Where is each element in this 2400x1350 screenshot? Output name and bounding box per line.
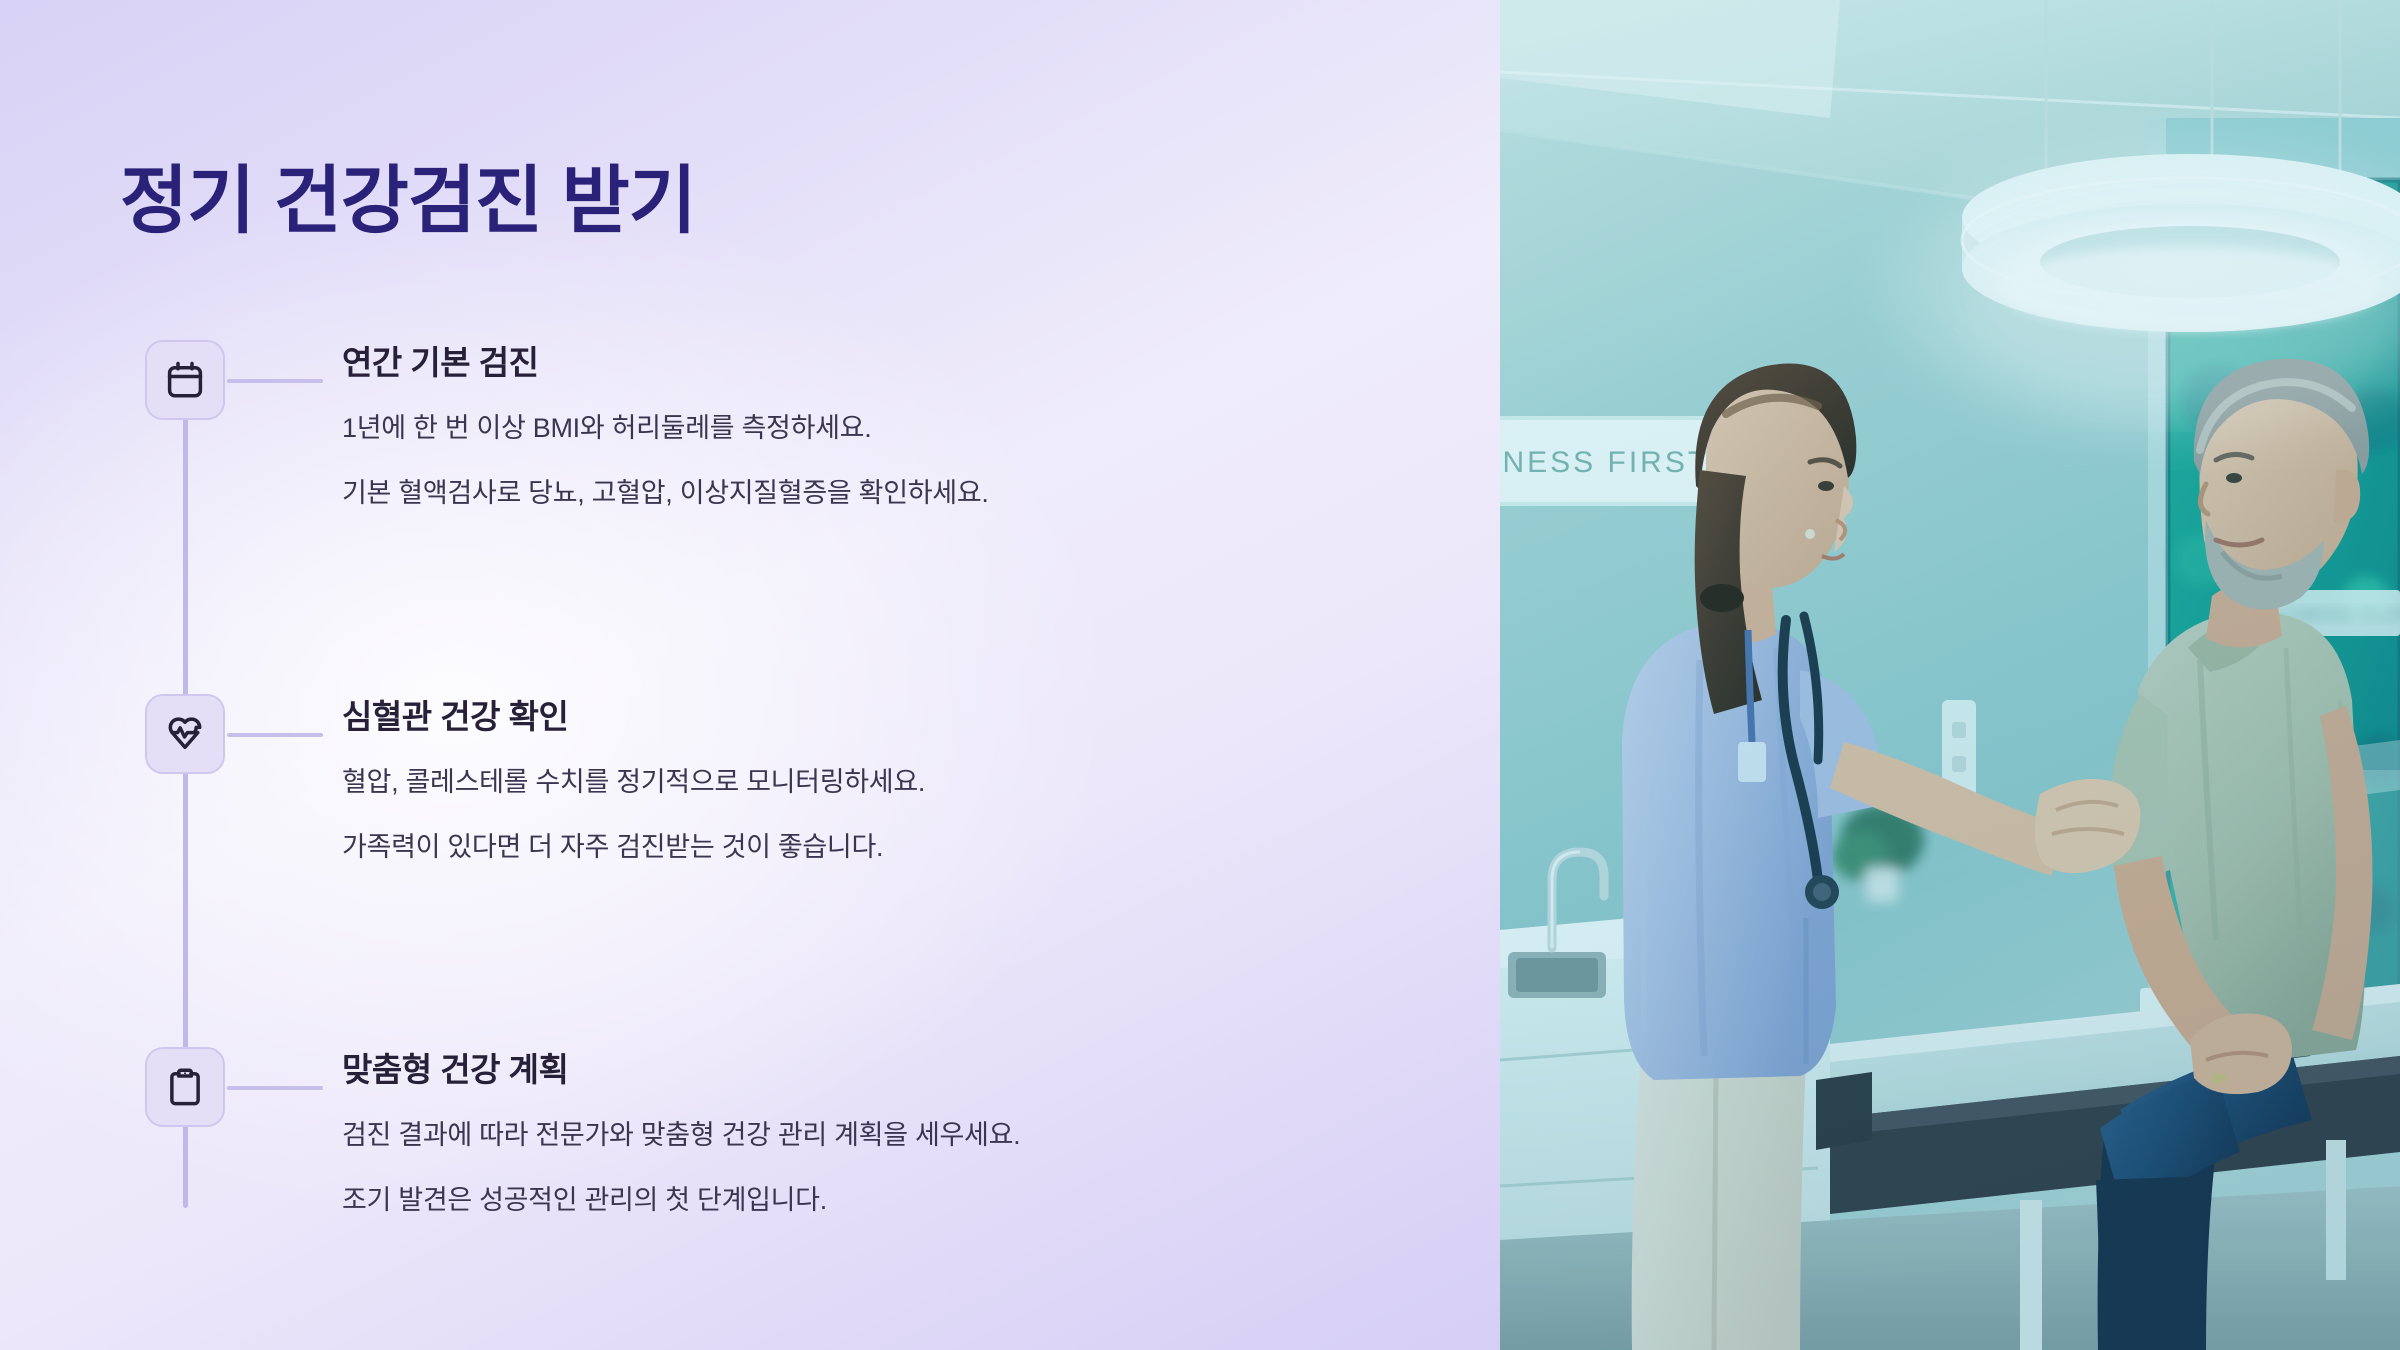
timeline-connector xyxy=(227,1086,323,1090)
timeline-item-body: 심혈관 건강 확인 혈압, 콜레스테롤 수치를 정기적으로 모니터링하세요. 가… xyxy=(342,694,1400,868)
clipboard-icon[interactable] xyxy=(145,1047,225,1127)
content-panel: 정기 건강검진 받기 연간 기본 검진 1년에 한 번 이상 BMI와 허리둘레… xyxy=(0,0,1500,1350)
timeline-item-line: 혈압, 콜레스테롤 수치를 정기적으로 모니터링하세요. xyxy=(342,763,1400,802)
timeline-item-heading: 연간 기본 검진 xyxy=(342,342,1400,383)
calendar-icon[interactable] xyxy=(145,340,225,420)
timeline-item-cardio-check[interactable]: 심혈관 건강 확인 혈압, 콜레스테롤 수치를 정기적으로 모니터링하세요. 가… xyxy=(120,694,1400,868)
timeline-item-heading: 심혈관 건강 확인 xyxy=(342,696,1400,737)
timeline-item-line: 가족력이 있다면 더 자주 검진받는 것이 좋습니다. xyxy=(342,828,1400,867)
timeline-connector xyxy=(227,379,323,383)
clinic-consultation-photo: WELLNESS CLINIC xyxy=(1500,0,2400,1350)
timeline-item-personal-plan[interactable]: 맞춤형 건강 계획 검진 결과에 따라 전문가와 맞춤형 건강 관리 계획을 세… xyxy=(120,1047,1400,1221)
timeline-item-line: 1년에 한 번 이상 BMI와 허리둘레를 측정하세요. xyxy=(342,409,1400,448)
timeline-item-annual-checkup[interactable]: 연간 기본 검진 1년에 한 번 이상 BMI와 허리둘레를 측정하세요. 기본… xyxy=(120,340,1400,514)
timeline-item-heading: 맞춤형 건강 계획 xyxy=(342,1049,1400,1090)
timeline-item-line: 기본 혈액검사로 당뇨, 고혈압, 이상지질혈증을 확인하세요. xyxy=(342,474,1400,513)
page-title: 정기 건강검진 받기 xyxy=(120,160,696,243)
timeline: 연간 기본 검진 1년에 한 번 이상 BMI와 허리둘레를 측정하세요. 기본… xyxy=(120,340,1400,1221)
timeline-item-line: 조기 발견은 성공적인 관리의 첫 단계입니다. xyxy=(342,1181,1400,1220)
timeline-item-line: 검진 결과에 따라 전문가와 맞춤형 건강 관리 계획을 세우세요. xyxy=(342,1116,1400,1155)
timeline-item-body: 맞춤형 건강 계획 검진 결과에 따라 전문가와 맞춤형 건강 관리 계획을 세… xyxy=(342,1047,1400,1221)
timeline-item-body: 연간 기본 검진 1년에 한 번 이상 BMI와 허리둘레를 측정하세요. 기본… xyxy=(342,340,1400,514)
slide-root: 정기 건강검진 받기 연간 기본 검진 1년에 한 번 이상 BMI와 허리둘레… xyxy=(0,0,2400,1350)
heart-pulse-icon[interactable] xyxy=(145,694,225,774)
timeline-connector xyxy=(227,733,323,737)
